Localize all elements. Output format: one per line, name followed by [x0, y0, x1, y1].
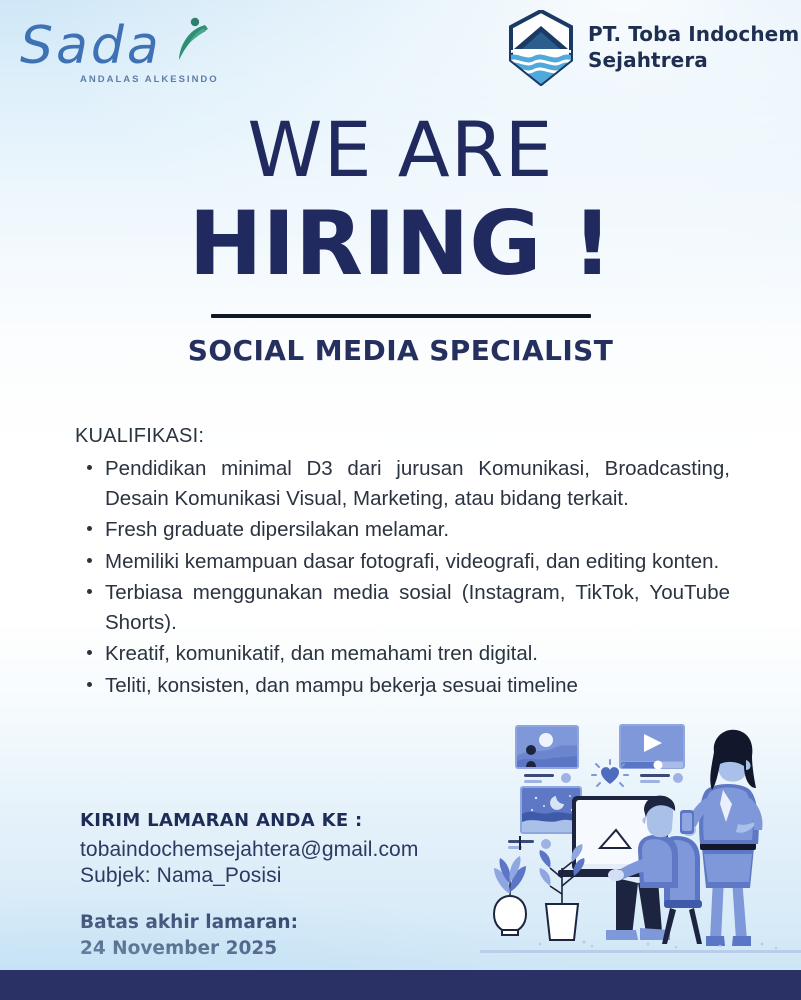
- bullet-icon: [87, 526, 92, 531]
- deadline-block: Batas akhir lamaran: 24 November 2025: [80, 910, 418, 963]
- toba-company-line2: Sejahtrera: [588, 48, 799, 74]
- bullet-icon: [87, 558, 92, 563]
- photo-card-beach: [515, 725, 579, 783]
- qualification-text: Terbiasa menggunakan media sosial (Insta…: [105, 581, 730, 634]
- hexagon-mountain-waves-logo-icon: [508, 10, 574, 86]
- toba-company-name: PT. Toba Indochem Sejahtrera: [588, 22, 799, 73]
- qualification-item: Memiliki kemampuan dasar fotografi, vide…: [105, 547, 730, 577]
- qualification-item: Terbiasa menggunakan media sosial (Insta…: [105, 578, 730, 637]
- hero-we-are: WE ARE: [0, 112, 801, 188]
- bullet-icon: [87, 465, 92, 470]
- qualifications-list: Pendidikan minimal D3 dari jurusan Komun…: [75, 454, 730, 700]
- footer-bar: [0, 970, 801, 1000]
- photo-card-night: [508, 786, 582, 850]
- contact-section: KIRIM LAMARAN ANDA KE : tobaindochemseja…: [80, 810, 418, 963]
- bullet-icon: [87, 682, 92, 687]
- qualification-item: Fresh graduate dipersilakan melamar.: [105, 515, 730, 545]
- social-media-team-illustration: [480, 718, 801, 968]
- qualification-text: Memiliki kemampuan dasar fotografi, vide…: [105, 550, 719, 573]
- bullet-icon: [87, 650, 92, 655]
- job-poster: Sada ANDALAS ALKESINDO: [0, 0, 801, 1000]
- qualifications-section: KUALIFIKASI: Pendidikan minimal D3 dari …: [75, 425, 730, 702]
- sada-logo: Sada ANDALAS ALKESINDO: [14, 14, 224, 96]
- hero-divider: [211, 314, 591, 318]
- sada-wordmark: Sada: [20, 20, 162, 72]
- qualification-text: Pendidikan minimal D3 dari jurusan Komun…: [105, 457, 730, 510]
- contact-email[interactable]: tobaindochemsejahtera@gmail.com: [80, 838, 418, 862]
- video-player-card: [619, 724, 685, 783]
- person-swoosh-icon: [172, 16, 212, 62]
- qualification-text: Kreatif, komunikatif, dan memahami tren …: [105, 642, 538, 665]
- sada-tagline: ANDALAS ALKESINDO: [80, 74, 219, 85]
- deadline-date: 24 November 2025: [80, 936, 418, 962]
- qualification-text: Teliti, konsisten, dan mampu bekerja ses…: [105, 674, 578, 697]
- toba-indochem-logo: PT. Toba Indochem Sejahtrera: [508, 10, 799, 86]
- bullet-icon: [87, 589, 92, 594]
- deadline-label: Batas akhir lamaran:: [80, 910, 418, 936]
- qualification-item: Teliti, konsisten, dan mampu bekerja ses…: [105, 671, 730, 701]
- contact-heading: KIRIM LAMARAN ANDA KE :: [80, 810, 418, 831]
- hero-section: WE ARE HIRING ! SOCIAL MEDIA SPECIALIST: [0, 112, 801, 367]
- contact-subject: Subjek: Nama_Posisi: [80, 864, 418, 888]
- qualification-item: Kreatif, komunikatif, dan memahami tren …: [105, 639, 730, 669]
- hero-hiring: HIRING !: [0, 200, 801, 288]
- job-title: SOCIAL MEDIA SPECIALIST: [0, 334, 801, 367]
- qualifications-title: KUALIFIKASI:: [75, 425, 730, 448]
- qualification-text: Fresh graduate dipersilakan melamar.: [105, 518, 449, 541]
- potted-plant-round-vase: [494, 856, 526, 935]
- toba-company-line1: PT. Toba Indochem: [588, 22, 799, 48]
- qualification-item: Pendidikan minimal D3 dari jurusan Komun…: [105, 454, 730, 513]
